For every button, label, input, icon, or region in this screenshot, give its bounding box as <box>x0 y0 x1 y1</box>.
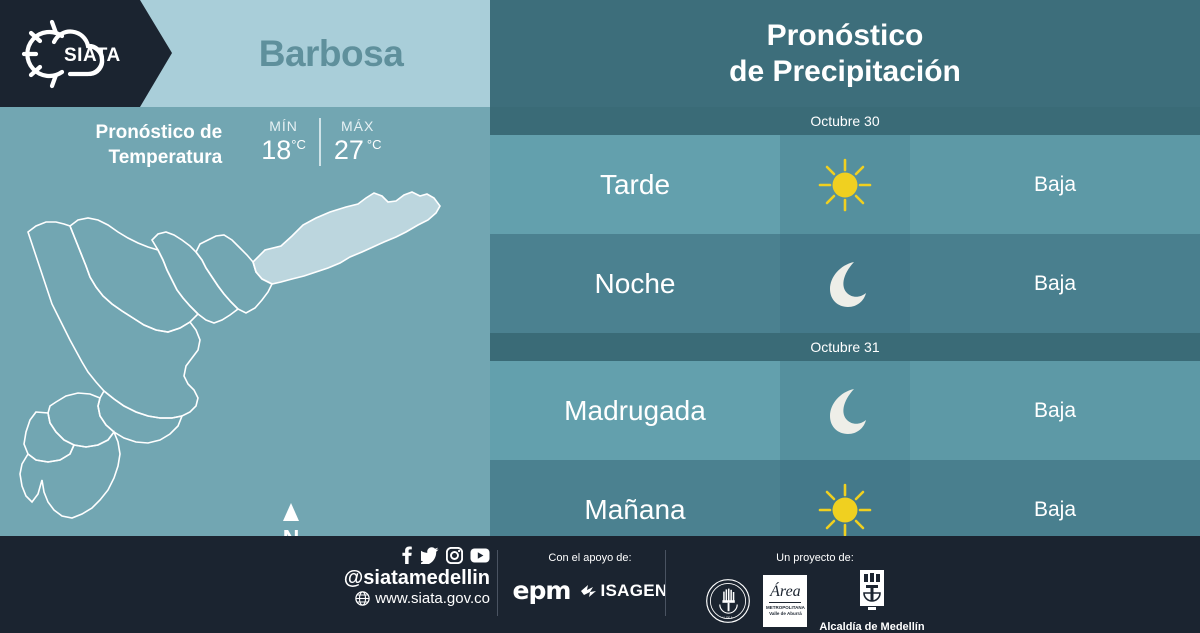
date-header-oct30: Octubre 30 <box>490 107 1200 135</box>
period-label: Madrugada <box>490 361 780 460</box>
facebook-icon[interactable] <box>399 546 414 564</box>
weather-icon-cell <box>780 361 910 460</box>
forecast-row[interactable]: Noche Baja <box>490 234 1200 333</box>
weather-icon-cell <box>780 135 910 234</box>
temperature-panel: SIATA Barbosa Pronóstico de Temperatura … <box>0 0 490 536</box>
udea-seal-text: U. DE A. <box>723 615 734 619</box>
city-title: Barbosa <box>172 0 490 107</box>
alcaldia-emblem-icon <box>855 568 889 618</box>
temperature-title: Pronóstico de Temperatura <box>96 118 223 170</box>
ama-sub-line2: Valle de Aburrá <box>769 611 802 617</box>
isagen-logo[interactable]: ISAGEN <box>580 581 667 601</box>
period-label: Tarde <box>490 135 780 234</box>
map-region-caldas[interactable] <box>20 432 120 518</box>
temperature-max-unit: °C <box>367 137 382 152</box>
temperature-summary: Pronóstico de Temperatura MÍN 18°C MÁX 2… <box>0 118 490 180</box>
period-label: Noche <box>490 234 780 333</box>
footer-project-block: Un proyecto de: U. DE A. <box>700 552 930 633</box>
footer: @siatamedellin www.siata.gov.co Con el a… <box>0 536 1200 630</box>
ama-script: Área <box>770 585 801 599</box>
probability-label: Baja <box>910 361 1200 460</box>
precipitation-title-line1: Pronóstico <box>767 18 924 54</box>
probability-label: Baja <box>910 135 1200 234</box>
footer-support-block: Con el apoyo de: epm ISAGEN <box>505 552 675 605</box>
sun-cloud-icon: SIATA <box>14 14 142 94</box>
forecast-table: Octubre 30 Tarde <box>490 107 1200 559</box>
map-svg: N <box>0 180 490 536</box>
temperature-max-label: MÁX <box>334 118 382 134</box>
project-caption: Un proyecto de: <box>700 552 930 564</box>
support-logos: epm ISAGEN <box>505 576 675 605</box>
isagen-mark-icon <box>580 583 597 598</box>
temperature-max-value-group: 27°C <box>334 135 382 166</box>
alcaldia-de-medellin-logo[interactable]: Alcaldía de Medellín <box>819 568 924 633</box>
map-region-sabaneta[interactable] <box>24 412 74 462</box>
social-handle[interactable]: @siatamedellin <box>344 566 490 590</box>
aburra-valley-map: N <box>0 180 490 536</box>
sun-icon <box>814 479 876 541</box>
temperature-max: MÁX 27°C <box>319 118 395 166</box>
twitter-icon[interactable] <box>421 546 439 564</box>
compass-label: N <box>283 525 300 536</box>
precipitation-panel: Pronóstico de Precipitación Octubre 30 T… <box>490 0 1200 536</box>
globe-icon <box>355 591 370 606</box>
temperature-min-value-group: 18°C <box>261 135 306 166</box>
social-icons <box>399 546 490 564</box>
temperature-values: MÍN 18°C MÁX 27°C <box>248 118 394 166</box>
left-header: SIATA Barbosa <box>0 0 490 107</box>
udea-seal-icon[interactable]: U. DE A. <box>705 578 751 624</box>
temperature-max-value: 27 <box>334 135 364 165</box>
ama-logo-box: Área METROPOLITANA Valle de Aburrá <box>763 575 807 627</box>
ama-rule <box>769 602 801 603</box>
footer-divider-2 <box>665 550 666 616</box>
moon-icon <box>814 253 876 315</box>
footer-social-block: @siatamedellin www.siata.gov.co <box>300 546 490 607</box>
alcaldia-label: Alcaldía de Medellín <box>819 621 924 633</box>
date-header-oct31: Octubre 31 <box>490 333 1200 361</box>
isagen-wordmark: ISAGEN <box>600 581 667 601</box>
forecast-row[interactable]: Tarde <box>490 135 1200 234</box>
temperature-min-label: MÍN <box>261 118 306 134</box>
precipitation-header: Pronóstico de Precipitación <box>490 0 1200 107</box>
forecast-row[interactable]: Madrugada Baja <box>490 361 1200 460</box>
siata-logo-banner: SIATA <box>0 0 172 107</box>
footer-divider-1 <box>497 550 498 616</box>
map-region-barbosa[interactable] <box>253 192 440 284</box>
youtube-icon[interactable] <box>470 548 490 563</box>
website-url: www.siata.gov.co <box>375 590 490 607</box>
compass-north-indicator: N <box>283 503 300 536</box>
map-region-medellin[interactable] <box>28 222 200 418</box>
moon-icon <box>814 380 876 442</box>
project-logos: U. DE A. Área METROPOLITANA Valle de Abu… <box>700 568 930 633</box>
map-region-copacabana[interactable] <box>152 232 238 323</box>
epm-logo[interactable]: epm <box>513 576 571 605</box>
temperature-title-line2: Temperatura <box>96 145 223 170</box>
precipitation-title-line2: de Precipitación <box>729 54 961 90</box>
probability-label: Baja <box>910 234 1200 333</box>
logo-wordmark: SIATA <box>64 45 121 66</box>
website-line[interactable]: www.siata.gov.co <box>355 590 490 607</box>
support-caption: Con el apoyo de: <box>505 552 675 564</box>
infographic-root: SIATA Barbosa Pronóstico de Temperatura … <box>0 0 1200 630</box>
map-region-itagui[interactable] <box>48 393 114 447</box>
area-metropolitana-logo[interactable]: Área METROPOLITANA Valle de Aburrá <box>763 575 807 627</box>
weather-icon-cell <box>780 234 910 333</box>
instagram-icon[interactable] <box>446 547 463 564</box>
sun-icon <box>814 154 876 216</box>
temperature-min-value: 18 <box>261 135 291 165</box>
temperature-title-line1: Pronóstico de <box>96 120 223 145</box>
temperature-min-unit: °C <box>291 137 306 152</box>
temperature-min: MÍN 18°C <box>248 118 319 166</box>
